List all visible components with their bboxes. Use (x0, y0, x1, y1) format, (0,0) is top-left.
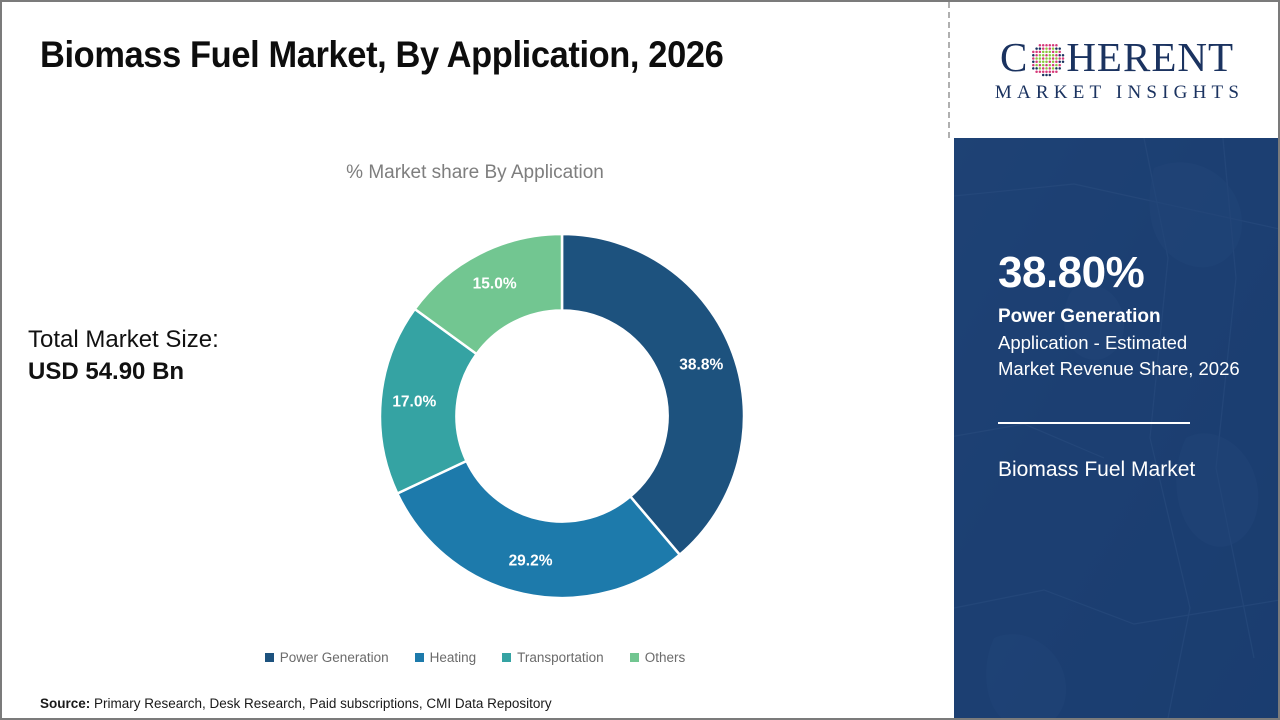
globe-dot (1052, 67, 1055, 70)
donut-slice-group (380, 234, 744, 598)
legend-label: Transportation (517, 650, 604, 665)
donut-slice (397, 461, 679, 598)
globe-dot (1046, 54, 1049, 57)
globe-dot (1039, 70, 1042, 73)
globe-dot (1039, 51, 1042, 54)
panel-segment-name: Power Generation (998, 305, 1242, 329)
globe-dot (1052, 61, 1055, 64)
globe-dot (1052, 51, 1055, 54)
globe-dot (1042, 61, 1045, 64)
globe-dot (1059, 61, 1062, 64)
globe-dot (1052, 64, 1055, 67)
source-text: Primary Research, Desk Research, Paid su… (90, 696, 551, 711)
globe-dot (1046, 47, 1049, 50)
panel-percent-value: 38.80% (998, 250, 1242, 296)
globe-dot (1042, 67, 1045, 70)
globe-dot (1059, 51, 1062, 54)
globe-dot (1042, 74, 1045, 77)
logo-letter-c: C (1000, 37, 1028, 78)
source-line: Source: Primary Research, Desk Research,… (40, 696, 552, 711)
globe-dot (1062, 61, 1065, 64)
right-panel: C HERENT MARKET INSIGHTS (954, 2, 1280, 718)
globe-dot (1052, 54, 1055, 57)
globe-dot (1036, 67, 1039, 70)
logo-tagline: MARKET INSIGHTS (990, 82, 1244, 104)
globe-dot (1046, 74, 1049, 77)
globe-dot (1046, 64, 1049, 67)
globe-dot (1055, 51, 1058, 54)
globe-dot (1042, 54, 1045, 57)
globe-dot (1039, 67, 1042, 70)
source-label: Source: (40, 696, 90, 711)
panel-content: 38.80% Power Generation Application - Es… (998, 250, 1242, 486)
panel-market-name: Biomass Fuel Market (998, 455, 1242, 485)
globe-dot (1039, 44, 1042, 47)
globe-dot (1032, 57, 1035, 60)
globe-dot (1042, 51, 1045, 54)
legend-item[interactable]: Power Generation (265, 650, 389, 665)
legend-item[interactable]: Transportation (502, 650, 604, 665)
legend-item[interactable]: Others (630, 650, 686, 665)
legend-item[interactable]: Heating (415, 650, 477, 665)
globe-dot (1046, 70, 1049, 73)
legend-swatch-icon (502, 653, 511, 662)
legend-swatch-icon (630, 653, 639, 662)
total-market-size-value: USD 54.90 Bn (28, 356, 219, 388)
legend-label: Heating (430, 650, 477, 665)
globe-dot (1032, 51, 1035, 54)
main-content-area: Biomass Fuel Market, By Application, 202… (2, 2, 948, 718)
globe-dot (1039, 61, 1042, 64)
page-title: Biomass Fuel Market, By Application, 202… (40, 34, 723, 76)
globe-dot (1039, 57, 1042, 60)
globe-dot (1049, 57, 1052, 60)
globe-dot (1046, 51, 1049, 54)
globe-dot (1059, 54, 1062, 57)
globe-dot (1062, 57, 1065, 60)
globe-dot (1049, 64, 1052, 67)
globe-dot (1036, 51, 1039, 54)
globe-dot (1032, 54, 1035, 57)
donut-chart: 38.8%29.2%17.0%15.0% (376, 230, 748, 602)
panel-divider-rule (998, 422, 1190, 424)
logo-wordmark: C HERENT (1000, 37, 1234, 78)
globe-dot (1046, 57, 1049, 60)
globe-dot (1046, 44, 1049, 47)
globe-dot (1046, 67, 1049, 70)
donut-slice-label: 15.0% (473, 275, 517, 292)
total-market-size-block: Total Market Size: USD 54.90 Bn (28, 324, 219, 387)
logo-letters-herent: HERENT (1066, 37, 1234, 78)
chart-subtitle: % Market share By Application (2, 162, 948, 184)
globe-dot (1036, 57, 1039, 60)
globe-dot (1042, 64, 1045, 67)
globe-dot (1052, 57, 1055, 60)
globe-dot (1042, 47, 1045, 50)
donut-slice-label: 38.8% (679, 356, 723, 373)
globe-dot (1052, 47, 1055, 50)
globe-dot (1036, 47, 1039, 50)
donut-slice-label: 29.2% (509, 552, 553, 569)
legend-label: Others (645, 650, 686, 665)
globe-dot (1055, 61, 1058, 64)
globe-dot (1032, 61, 1035, 64)
globe-dot (1039, 47, 1042, 50)
globe-dots-icon-svg (1029, 41, 1065, 77)
globe-dot (1062, 54, 1065, 57)
globe-dot (1055, 67, 1058, 70)
globe-dot (1036, 54, 1039, 57)
donut-slice-label: 17.0% (392, 394, 436, 411)
globe-dot (1059, 64, 1062, 67)
highlight-info-panel: 38.80% Power Generation Application - Es… (954, 138, 1280, 718)
vertical-dashed-divider (948, 2, 950, 138)
globe-dot (1052, 44, 1055, 47)
brand-logo: C HERENT MARKET INSIGHTS (954, 2, 1280, 138)
globe-dot (1049, 47, 1052, 50)
globe-dot (1049, 67, 1052, 70)
globe-dot (1039, 54, 1042, 57)
globe-dots-icon (1029, 41, 1065, 77)
globe-dot (1055, 64, 1058, 67)
donut-slice (562, 234, 744, 555)
globe-dot (1039, 64, 1042, 67)
globe-dot (1049, 74, 1052, 77)
globe-dot (1032, 64, 1035, 67)
globe-dot (1042, 70, 1045, 73)
globe-dot (1049, 61, 1052, 64)
globe-dot (1059, 57, 1062, 60)
globe-dot (1042, 57, 1045, 60)
globe-dot (1042, 44, 1045, 47)
globe-dot (1052, 70, 1055, 73)
donut-chart-svg: 38.8%29.2%17.0%15.0% (376, 230, 748, 602)
globe-dot (1049, 70, 1052, 73)
globe-dot (1059, 47, 1062, 50)
globe-dot (1046, 61, 1049, 64)
globe-dot (1049, 54, 1052, 57)
legend-label: Power Generation (280, 650, 389, 665)
globe-dot (1036, 70, 1039, 73)
chart-legend: Power GenerationHeatingTransportationOth… (2, 650, 948, 665)
legend-swatch-icon (265, 653, 274, 662)
globe-dot (1049, 44, 1052, 47)
globe-dot (1036, 61, 1039, 64)
globe-dot (1055, 44, 1058, 47)
globe-dot (1055, 47, 1058, 50)
globe-dot (1032, 67, 1035, 70)
globe-dot (1049, 51, 1052, 54)
total-market-size-label: Total Market Size: (28, 324, 219, 356)
globe-dot (1055, 70, 1058, 73)
globe-dot (1055, 54, 1058, 57)
globe-dot (1059, 67, 1062, 70)
globe-dot (1036, 64, 1039, 67)
globe-dot (1055, 57, 1058, 60)
panel-description: Application - Estimated Market Revenue S… (998, 330, 1242, 383)
slide-canvas: Biomass Fuel Market, By Application, 202… (0, 0, 1280, 720)
legend-swatch-icon (415, 653, 424, 662)
